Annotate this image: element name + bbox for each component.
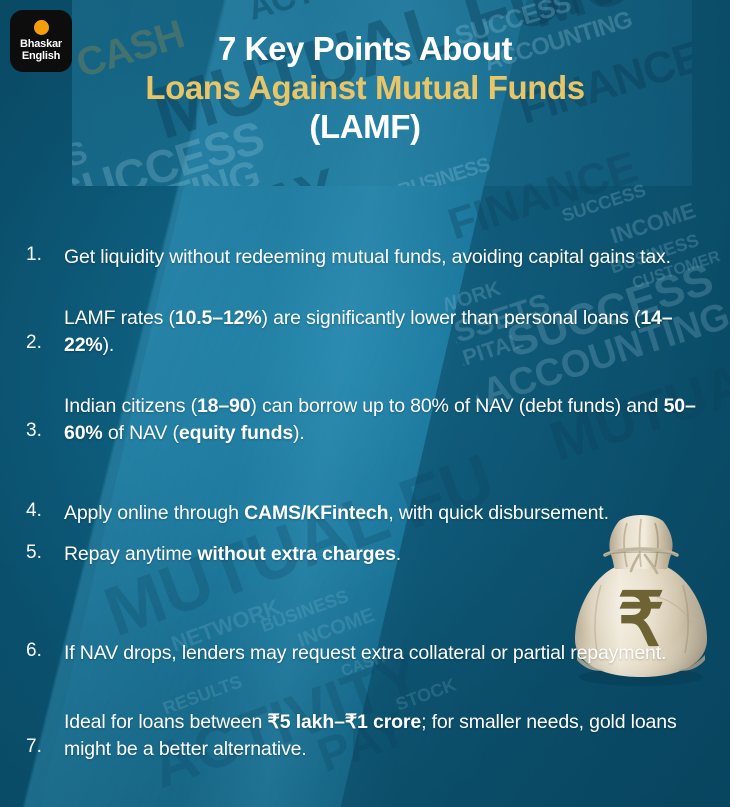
list-item: 7. Ideal for loans between ₹5 lakh–₹1 cr…	[0, 666, 730, 762]
list-item: 5. Repay anytime without extra charges.	[0, 526, 730, 582]
title-line-1: 7 Key Points About	[0, 30, 730, 69]
list-item: 4. Apply online through CAMS/KFintech, w…	[0, 446, 730, 526]
list-item-text: LAMF rates (10.5–12%) are significantly …	[64, 305, 706, 358]
list-item-text: Repay anytime without extra charges.	[64, 541, 706, 567]
list-item-number: 1.	[26, 242, 64, 270]
list-item: 2. LAMF rates (10.5–12%) are significant…	[0, 270, 730, 358]
title-line-2: Loans Against Mutual Funds	[0, 69, 730, 108]
list-item-number: 5.	[26, 540, 64, 568]
logo-line-2: English	[22, 50, 60, 62]
logo-dot-icon	[34, 20, 49, 35]
list-item-text: If NAV drops, lenders may request extra …	[64, 640, 706, 666]
list-item: 1. Get liquidity without redeeming mutua…	[0, 196, 730, 270]
logo-line-1: Bhaskar	[20, 38, 62, 50]
list-item-number: 2.	[26, 330, 64, 358]
list-item: 3. Indian citizens (18–90) can borrow up…	[0, 358, 730, 446]
list-item-text: Ideal for loans between ₹5 lakh–₹1 crore…	[64, 709, 706, 762]
list-item-number: 3.	[26, 418, 64, 446]
title-line-3: (LAMF)	[0, 108, 730, 147]
page-title: 7 Key Points About Loans Against Mutual …	[0, 30, 730, 147]
list-item-number: 6.	[26, 638, 64, 666]
list-item-text: Get liquidity without redeeming mutual f…	[64, 244, 706, 270]
list-item-text: Apply online through CAMS/KFintech, with…	[64, 500, 706, 526]
list-item: 6. If NAV drops, lenders may request ext…	[0, 582, 730, 666]
list-item-number: 4.	[26, 498, 64, 526]
infographic-poster: WORK ASSETS CAPITAL SUCCESS ACCOUNTING M…	[0, 0, 730, 807]
brand-logo: Bhaskar English	[10, 10, 72, 72]
list-item-text: Indian citizens (18–90) can borrow up to…	[64, 393, 706, 446]
key-points-list: 1. Get liquidity without redeeming mutua…	[0, 196, 730, 762]
list-item-number: 7.	[26, 734, 64, 762]
